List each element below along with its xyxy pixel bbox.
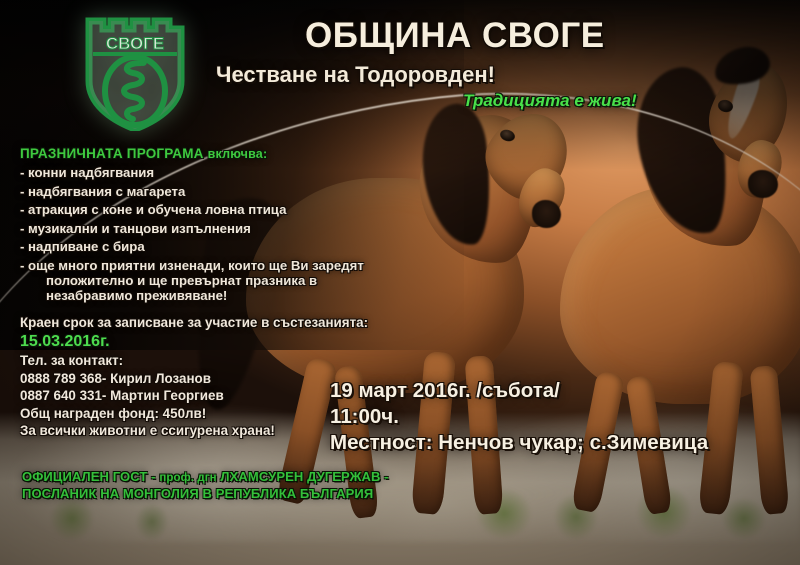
program-item: - надбягвания с магарета: [20, 184, 364, 199]
event-poster: СВОГЕ ОБЩИНА СВОГЕ Честване на Тодоровде…: [0, 0, 800, 565]
guest-name: ЛХАМСУРЕН ДУГЕРЖАВ -: [217, 469, 389, 484]
guest-line-1: ОФИЦИАЛЕН ГОСТ - проф. дгн ЛХАМСУРЕН ДУГ…: [22, 469, 389, 484]
poster-subtitle: Честване на Тодоровден!: [216, 62, 495, 88]
page-title: ОБЩИНА СВОГЕ: [305, 16, 605, 56]
program-item: - конни надбягвания: [20, 165, 364, 180]
logo-town-name: СВОГЕ: [106, 34, 164, 53]
program-heading: ПРАЗНИЧНАТА ПРОГРАМА включва:: [20, 146, 364, 161]
contact-label: Тел. за контакт:: [20, 353, 368, 368]
guest-prefix: ОФИЦИАЛЕН ГОСТ -: [22, 469, 159, 484]
program-item: - още много приятни изненади, които ще В…: [20, 258, 364, 303]
contact-row: 0888 789 368- Кирил Лозанов: [20, 371, 368, 386]
event-time: 11:00ч.: [330, 405, 708, 429]
event-details-section: 19 март 2016г. /събота/ 11:00ч. Местност…: [330, 379, 708, 457]
program-item-text: - музикални и танцови изпълнения: [20, 221, 251, 236]
program-section: ПРАЗНИЧНАТА ПРОГРАМА включва: - конни на…: [20, 146, 364, 306]
program-item: - атракция с коне и обучена ловна птица: [20, 202, 364, 217]
guest-line-2: ПОСЛАНИК НА МОНГОЛИЯ В РЕПУБЛИКА БЪЛГАРИ…: [22, 486, 389, 501]
program-list: - конни надбягвания - надбягвания с мага…: [20, 165, 364, 303]
animal-food-note: За всички животни е ссигурена храна!: [20, 423, 368, 438]
official-guest-section: ОФИЦИАЛЕН ГОСТ - проф. дгн ЛХАМСУРЕН ДУГ…: [22, 469, 389, 503]
program-heading-bold: ПРАЗНИЧНАТА ПРОГРАМА: [20, 146, 208, 161]
program-item-text: - още много приятни изненади, които ще В…: [20, 258, 364, 273]
prize-fund: Общ награден фонд: 450лв!: [20, 406, 368, 421]
program-item-continuation: незабравимо преживяване!: [33, 288, 364, 303]
program-item-text: - конни надбягвания: [20, 165, 154, 180]
contact-phone[interactable]: 0888 789 368: [20, 371, 102, 386]
contact-name: - Мартин Георгиев: [102, 388, 224, 403]
contact-phone[interactable]: 0887 640 331: [20, 388, 102, 403]
svoge-coat-of-arms-logo: СВОГЕ: [83, 7, 187, 131]
guest-academic-title: проф. дгн: [159, 472, 216, 484]
contact-row: 0887 640 331- Мартин Георгиев: [20, 388, 368, 403]
event-location: Местност: Ненчов чукар; с.Зимевица: [330, 431, 708, 455]
poster-tagline: Традицията е жива!: [463, 91, 637, 111]
event-date: 19 март 2016г. /събота/: [330, 379, 708, 403]
program-heading-rest: включва:: [208, 147, 268, 161]
program-item-text: - надпиване с бира: [20, 239, 145, 254]
program-item: - надпиване с бира: [20, 239, 364, 254]
program-item-continuation: положително и ще превърнат празника в: [33, 273, 364, 288]
program-item: - музикални и танцови изпълнения: [20, 221, 364, 236]
deadline-label: Краен срок за записване за участие в със…: [20, 315, 368, 330]
deadline-date: 15.03.2016г.: [20, 333, 368, 351]
program-item-text: - надбягвания с магарета: [20, 184, 185, 199]
registration-section: Краен срок за записване за участие в със…: [20, 315, 368, 441]
contact-name: - Кирил Лозанов: [102, 371, 211, 386]
program-item-text: - атракция с коне и обучена ловна птица: [20, 202, 286, 217]
coat-of-arms-icon: СВОГЕ: [83, 7, 187, 131]
